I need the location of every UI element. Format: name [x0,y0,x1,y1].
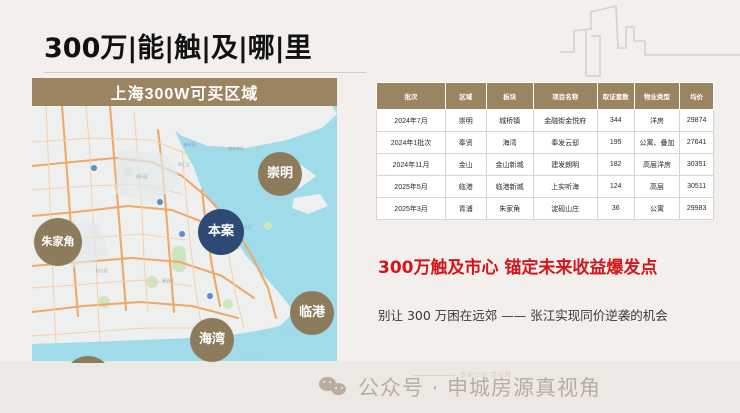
table-header-cell: 区域 [446,83,486,110]
table-cell: 2024年11月 [377,154,446,176]
table-cell: 高层洋房 [634,154,679,176]
table-body: 2024年7月崇明城桥镇金融街金悦府344洋房298742024年1批次奉贤海湾… [377,110,714,220]
map-pin[interactable]: 朱家角 [34,218,82,266]
map-canvas[interactable]: 闵行区 徐汇区 静安区 浦东新区 松江区 奉贤区 上海迪士尼 崇明朱家角本案临港… [32,106,337,363]
table-cell: 2024年7月 [377,110,446,132]
table-cell: 奉发云邸 [533,132,597,154]
svg-text:静安区: 静安区 [184,141,196,147]
footer-bar: 翡翠公园 壹号院 公众号 · 申城房源真视角 [0,361,740,413]
table-cell: 建发朗明 [533,154,597,176]
title-divider [44,72,366,73]
watermark-rule-left [413,375,455,376]
table-cell: 2024年1批次 [377,132,446,154]
table-cell: 195 [597,132,634,154]
table-header-cell: 取证套数 [597,83,634,110]
watermark-text: 翡翠公园 壹号院 [460,373,512,379]
table-cell: 30511 [680,176,714,198]
table-header-cell: 板块 [486,83,533,110]
table-cell: 公寓、叠加 [634,132,679,154]
projects-table: 批次 区域 板块 项目名称 取证套数 物业类型 均价 2024年7月崇明城桥镇金… [376,82,714,220]
table-cell: 金山新城 [486,154,533,176]
projects-table-wrapper: 批次 区域 板块 项目名称 取证套数 物业类型 均价 2024年7月崇明城桥镇金… [376,82,714,220]
map-pin[interactable]: 临港 [290,291,334,335]
table-cell: 临港 [446,176,486,198]
table-row: 2024年1批次奉贤海湾奉发云邸195公寓、叠加27641 [377,132,714,154]
svg-text:闵行区: 闵行区 [136,173,148,179]
svg-text:浦东新区: 浦东新区 [228,145,244,151]
table-cell: 金融街金悦府 [533,110,597,132]
map-header-title: 上海300W可买区域 [32,78,337,106]
subline: 别让 300 万困在远郊 —— 张江实现同价逆袭的机会 [378,305,668,324]
table-cell: 海湾 [486,132,533,154]
table-cell: 淀砚山庄 [533,198,597,220]
table-cell: 朱家角 [486,198,533,220]
table-cell: 公寓 [634,198,679,220]
map-pin[interactable]: 崇明 [258,152,302,196]
table-cell: 29874 [680,110,714,132]
map-pin[interactable]: 本案 [198,209,244,255]
table-cell: 洋房 [634,110,679,132]
headline: 300万触及市心 锚定未来收益爆发点 [378,253,657,278]
table-row: 2024年7月崇明城桥镇金融街金悦府344洋房29874 [377,110,714,132]
table-cell: 临港新城 [486,176,533,198]
table-cell: 30351 [680,154,714,176]
table-cell: 124 [597,176,634,198]
watermark: 翡翠公园 壹号院 [180,370,740,379]
svg-text:松江区: 松江区 [96,267,108,273]
table-header-cell: 物业类型 [634,83,679,110]
table-cell: 2025年5月 [377,176,446,198]
map-pin[interactable]: 海湾 [190,318,234,362]
table-cell: 182 [597,154,634,176]
table-cell: 崇明 [446,110,486,132]
table-cell: 27641 [680,132,714,154]
skyline-decoration [560,0,740,78]
table-header-cell: 项目名称 [533,83,597,110]
table-cell: 金山 [446,154,486,176]
table-row: 2025年3月青浦朱家角淀砚山庄36公寓29983 [377,198,714,220]
table-cell: 2025年3月 [377,198,446,220]
table-row: 2024年11月金山金山新城建发朗明182高层洋房30351 [377,154,714,176]
table-cell: 344 [597,110,634,132]
table-row: 2025年5月临港临港新城上实听海124高层30511 [377,176,714,198]
table-cell: 36 [597,198,634,220]
table-cell: 上实听海 [533,176,597,198]
table-cell: 29983 [680,198,714,220]
map-panel: 上海300W可买区域 [32,78,337,363]
table-cell: 青浦 [446,198,486,220]
page-title-block: 300万|能|触|及|哪|里 [44,26,374,73]
table-cell: 奉贤 [446,132,486,154]
table-cell: 城桥镇 [486,110,533,132]
table-header-cell: 批次 [377,83,446,110]
svg-text:徐汇区: 徐汇区 [178,161,190,167]
table-cell: 高层 [634,176,679,198]
wechat-icon [319,375,349,399]
table-header-row: 批次 区域 板块 项目名称 取证套数 物业类型 均价 [377,83,714,110]
svg-text:奉贤区: 奉贤区 [162,277,174,283]
table-header-cell: 均价 [680,83,714,110]
page-title: 300万|能|触|及|哪|里 [44,26,374,65]
